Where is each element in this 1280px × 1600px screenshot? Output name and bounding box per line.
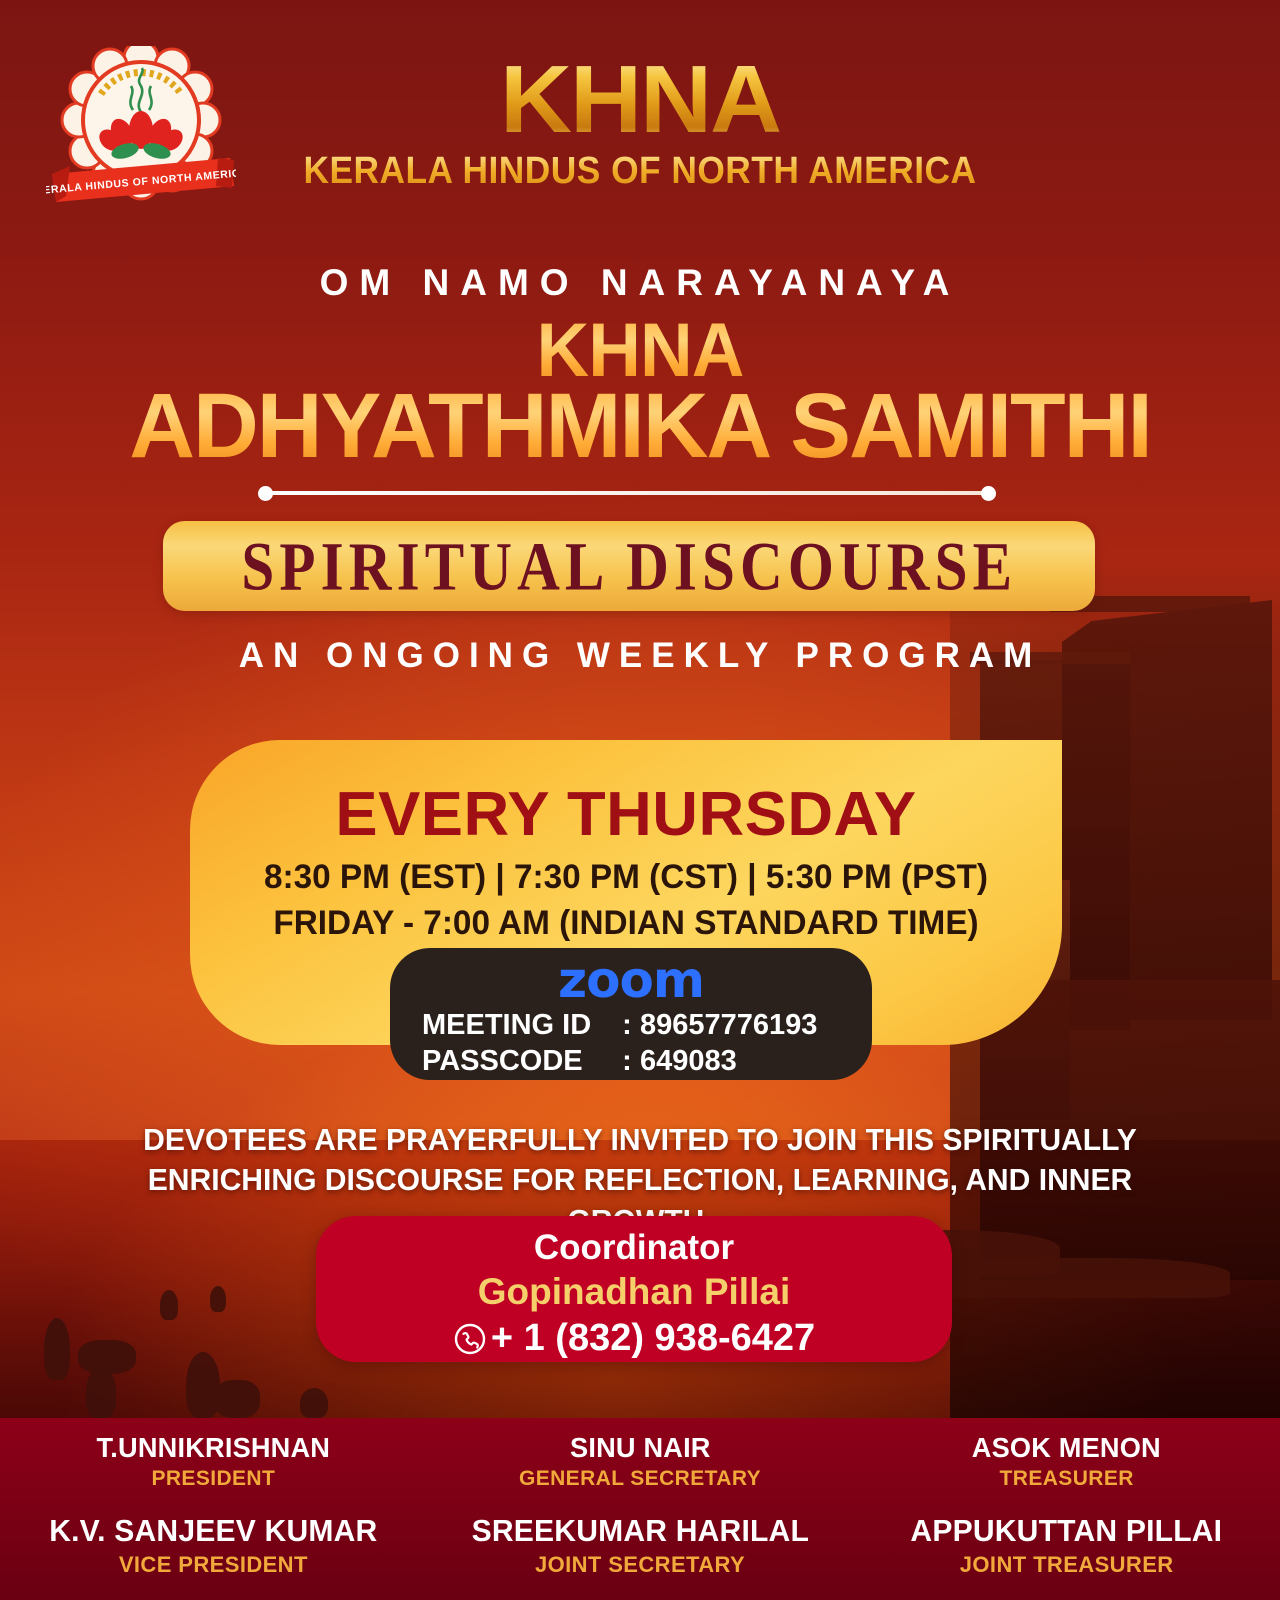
bather-silhouette <box>78 1340 136 1374</box>
schedule-times-line1: 8:30 PM (EST) | 7:30 PM (CST) | 5:30 PM … <box>199 855 1054 901</box>
officer-entry: APPUKUTTAN PILLAI JOINT TREASURER <box>853 1513 1280 1578</box>
bather-silhouette <box>186 1352 220 1418</box>
schedule-day: EVERY THURSDAY <box>181 782 1070 847</box>
zoom-logo: zoom <box>390 954 872 1007</box>
bather-silhouette <box>160 1290 178 1320</box>
poster-canvas: KERALA HINDUS OF NORTH AMERICA KHNA KERA… <box>0 0 1280 1600</box>
schedule-times-line2: FRIDAY - 7:00 AM (INDIAN STANDARD TIME) <box>199 901 1054 947</box>
khna-wordmark-subtitle: KERALA HINDUS OF NORTH AMERICA <box>45 150 1235 193</box>
officer-role: PRESIDENT <box>0 1467 427 1491</box>
officer-name: K.V. SANJEEV KUMAR <box>6 1513 420 1549</box>
bather-silhouette <box>210 1286 226 1312</box>
phone-in-circle-icon <box>453 1322 487 1356</box>
event-title-line2: ADHYATHMIKA SAMITHI <box>6 384 1273 469</box>
zoom-separator: : <box>614 1007 640 1043</box>
bather-silhouette <box>300 1388 328 1418</box>
bather-silhouette <box>44 1318 70 1380</box>
officer-entry: ASOK MENON TREASURER <box>853 1432 1280 1491</box>
coordinator-name: Gopinadhan Pillai <box>316 1270 952 1314</box>
zoom-passcode-value[interactable]: 649083 <box>640 1043 840 1079</box>
bather-silhouette <box>86 1366 116 1418</box>
officer-entry: K.V. SANJEEV KUMAR VICE PRESIDENT <box>0 1513 427 1578</box>
officers-row-2: K.V. SANJEEV KUMAR VICE PRESIDENT SREEKU… <box>0 1513 1280 1578</box>
officer-entry: SINU NAIR GENERAL SECRETARY <box>427 1432 854 1491</box>
coordinator-label: Coordinator <box>316 1226 952 1270</box>
officer-role: VICE PRESIDENT <box>0 1552 427 1578</box>
zoom-details-panel: zoom MEETING ID : 89657776193 PASSCODE :… <box>390 948 872 1080</box>
officer-entry: SREEKUMAR HARILAL JOINT SECRETARY <box>427 1513 854 1578</box>
officer-role: JOINT TREASURER <box>853 1552 1280 1578</box>
officer-entry: T.UNNIKRISHNAN PRESIDENT <box>0 1432 427 1491</box>
khna-wordmark-block: KHNA KERALA HINDUS OF NORTH AMERICA <box>0 52 1280 193</box>
khna-wordmark: KHNA <box>0 52 1280 148</box>
coordinator-phone-row[interactable]: + 1 (832) 938-6427 <box>316 1316 952 1362</box>
coordinator-phone-number[interactable]: + 1 (832) 938-6427 <box>491 1316 815 1362</box>
zoom-passcode-label: PASSCODE <box>422 1043 614 1079</box>
zoom-meeting-id-label: MEETING ID <box>422 1007 614 1043</box>
divider-ornament <box>258 486 996 500</box>
crowd-silhouette <box>930 1258 1230 1298</box>
invitation-line1: DEVOTEES ARE PRAYERFULLY INVITED TO JOIN… <box>107 1120 1174 1160</box>
bather-silhouette <box>214 1380 260 1418</box>
zoom-separator: : <box>614 1043 640 1079</box>
spiritual-discourse-banner: SPIRITUAL DISCOURSE <box>163 521 1095 611</box>
officer-role: JOINT SECRETARY <box>427 1552 854 1578</box>
officer-name: ASOK MENON <box>860 1432 1274 1464</box>
officer-role: GENERAL SECRETARY <box>427 1467 854 1491</box>
coordinator-panel: Coordinator Gopinadhan Pillai + 1 (832) … <box>316 1216 952 1362</box>
officer-role: TREASURER <box>853 1467 1280 1491</box>
spiritual-discourse-label: SPIRITUAL DISCOURSE <box>241 526 1017 605</box>
zoom-meeting-id-value[interactable]: 89657776193 <box>640 1007 840 1043</box>
zoom-meeting-id-row: MEETING ID : 89657776193 <box>390 1007 872 1043</box>
program-subtitle: AN ONGOING WEEKLY PROGRAM <box>0 636 1280 676</box>
mantra-text: OM NAMO NARAYANAYA <box>0 262 1280 304</box>
schedule-times: 8:30 PM (EST) | 7:30 PM (CST) | 5:30 PM … <box>199 855 1054 947</box>
divider-dot-right <box>981 486 996 501</box>
officers-footer: T.UNNIKRISHNAN PRESIDENT SINU NAIR GENER… <box>0 1418 1280 1600</box>
officer-name: SINU NAIR <box>433 1432 847 1464</box>
officers-row-1: T.UNNIKRISHNAN PRESIDENT SINU NAIR GENER… <box>0 1432 1280 1491</box>
officer-name: APPUKUTTAN PILLAI <box>860 1513 1274 1549</box>
zoom-passcode-row: PASSCODE : 649083 <box>390 1043 872 1079</box>
divider-bar <box>266 491 988 495</box>
officer-name: T.UNNIKRISHNAN <box>6 1432 420 1464</box>
officer-name: SREEKUMAR HARILAL <box>433 1513 847 1549</box>
